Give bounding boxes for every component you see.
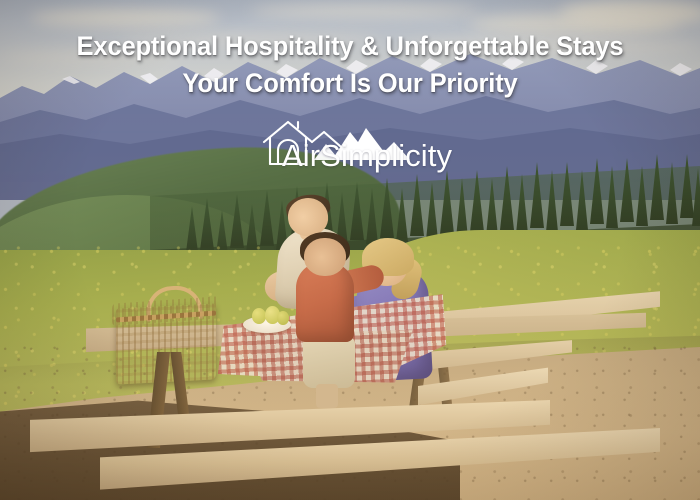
hero-banner: Exceptional Hospitality & Unforgettable …	[0, 0, 700, 500]
pear	[277, 311, 289, 325]
boy-shorts	[303, 336, 355, 388]
cloud	[560, 0, 700, 26]
headline-block: Exceptional Hospitality & Unforgettable …	[0, 32, 700, 97]
brand-name: AirSimplicity	[282, 138, 452, 174]
boy-head	[304, 238, 346, 276]
cloud	[30, 10, 220, 26]
brand-logo[interactable]: AirSimplicity	[0, 112, 700, 182]
pear	[252, 308, 266, 324]
cloud	[250, 4, 480, 18]
headline-line-2: Your Comfort Is Our Priority	[12, 69, 688, 98]
boy-leg	[316, 384, 338, 408]
headline-line-1: Exceptional Hospitality & Unforgettable …	[12, 32, 688, 61]
